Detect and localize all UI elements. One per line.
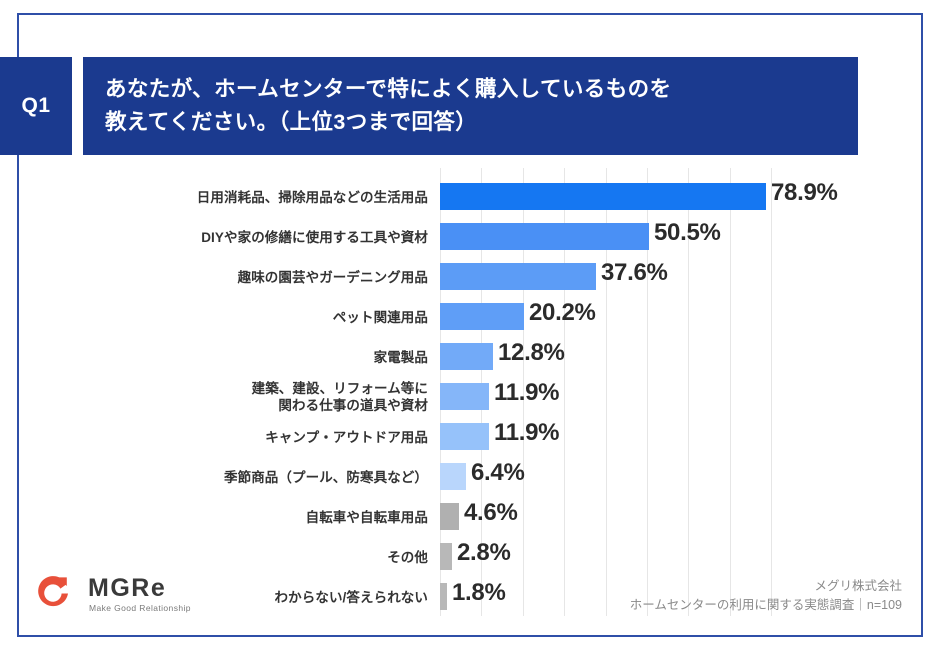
category-label-line: 日用消耗品、掃除用品などの生活用品 xyxy=(40,189,428,206)
bar-value-label: 37.6% xyxy=(601,259,668,287)
bar-value-label: 6.4% xyxy=(471,459,525,487)
category-label-line: 趣味の園芸やガーデニング用品 xyxy=(40,269,428,286)
question-number-badge: Q1 xyxy=(0,57,72,155)
bar xyxy=(440,463,466,490)
bar-chart: 日用消耗品、掃除用品などの生活用品78.9%DIYや家の修繕に使用する工具や資材… xyxy=(40,168,900,623)
bar xyxy=(440,503,459,530)
chart-row: 家電製品12.8% xyxy=(40,337,900,377)
bar xyxy=(440,423,489,450)
chart-row: 季節商品（プール、防寒具など）6.4% xyxy=(40,457,900,497)
chart-row: 趣味の園芸やガーデニング用品37.6% xyxy=(40,257,900,297)
category-label-line: ペット関連用品 xyxy=(40,309,428,326)
bar-value-label: 2.8% xyxy=(457,539,511,567)
category-label: キャンプ・アウトドア用品 xyxy=(40,429,428,446)
category-label: 自転車や自転車用品 xyxy=(40,509,428,526)
bar-value-label: 11.9% xyxy=(494,419,559,447)
category-label: ペット関連用品 xyxy=(40,309,428,326)
category-label-line: キャンプ・アウトドア用品 xyxy=(40,429,428,446)
bar xyxy=(440,223,649,250)
bar xyxy=(440,343,493,370)
footer-survey: ホームセンターの利用に関する実態調査｜n=109 xyxy=(630,596,902,615)
bar-value-label: 78.9% xyxy=(771,179,838,207)
category-label-line: 建築、建設、リフォーム等に xyxy=(40,380,428,397)
bar-value-label: 20.2% xyxy=(529,299,596,327)
category-label-line: 家電製品 xyxy=(40,349,428,366)
bar xyxy=(440,303,524,330)
category-label: 家電製品 xyxy=(40,349,428,366)
bar xyxy=(440,263,596,290)
bar-value-label: 50.5% xyxy=(654,219,721,247)
chart-row: キャンプ・アウトドア用品11.9% xyxy=(40,417,900,457)
question-title-line-1: あなたが、ホームセンターで特によく購入しているものを xyxy=(105,73,838,106)
chart-row: 建築、建設、リフォーム等に関わる仕事の道具や資材11.9% xyxy=(40,377,900,417)
bar xyxy=(440,183,766,210)
footer-credit: メグリ株式会社 ホームセンターの利用に関する実態調査｜n=109 xyxy=(630,577,902,615)
bar-value-label: 12.8% xyxy=(498,339,565,367)
category-label-line: 季節商品（プール、防寒具など） xyxy=(40,469,428,486)
category-label: 季節商品（プール、防寒具など） xyxy=(40,469,428,486)
category-label: 建築、建設、リフォーム等に関わる仕事の道具や資材 xyxy=(40,380,428,414)
category-label: 趣味の園芸やガーデニング用品 xyxy=(40,269,428,286)
mgre-circle-mark xyxy=(36,574,72,610)
category-label: DIYや家の修繕に使用する工具や資材 xyxy=(40,229,428,246)
bar-value-label: 4.6% xyxy=(464,499,518,527)
mgre-tagline: Make Good Relationship xyxy=(89,603,191,613)
mgre-wordmark: MGRe xyxy=(88,574,166,603)
chart-row: その他2.8% xyxy=(40,537,900,577)
bar-value-label: 11.9% xyxy=(494,379,559,407)
chart-row: ペット関連用品20.2% xyxy=(40,297,900,337)
category-label: その他 xyxy=(40,549,428,566)
chart-row: 自転車や自転車用品4.6% xyxy=(40,497,900,537)
bar xyxy=(440,543,452,570)
bar-value-label: 1.8% xyxy=(452,579,506,607)
question-title-line-2: 教えてください。（上位3つまで回答） xyxy=(105,106,838,139)
chart-row: 日用消耗品、掃除用品などの生活用品78.9% xyxy=(40,177,900,217)
bar xyxy=(440,583,447,610)
footer-company: メグリ株式会社 xyxy=(630,577,902,596)
question-title-box: あなたが、ホームセンターで特によく購入しているものを 教えてください。（上位3つ… xyxy=(83,57,858,155)
slide-root: Q1 あなたが、ホームセンターで特によく購入しているものを 教えてください。（上… xyxy=(0,0,940,650)
bar xyxy=(440,383,489,410)
category-label-line: 関わる仕事の道具や資材 xyxy=(40,397,428,414)
category-label-line: 自転車や自転車用品 xyxy=(40,509,428,526)
chart-row: DIYや家の修繕に使用する工具や資材50.5% xyxy=(40,217,900,257)
question-number-label: Q1 xyxy=(21,94,50,118)
category-label-line: DIYや家の修繕に使用する工具や資材 xyxy=(40,229,428,246)
category-label-line: その他 xyxy=(40,549,428,566)
mgre-logo: MGRe Make Good Relationship xyxy=(36,572,216,618)
category-label: 日用消耗品、掃除用品などの生活用品 xyxy=(40,189,428,206)
